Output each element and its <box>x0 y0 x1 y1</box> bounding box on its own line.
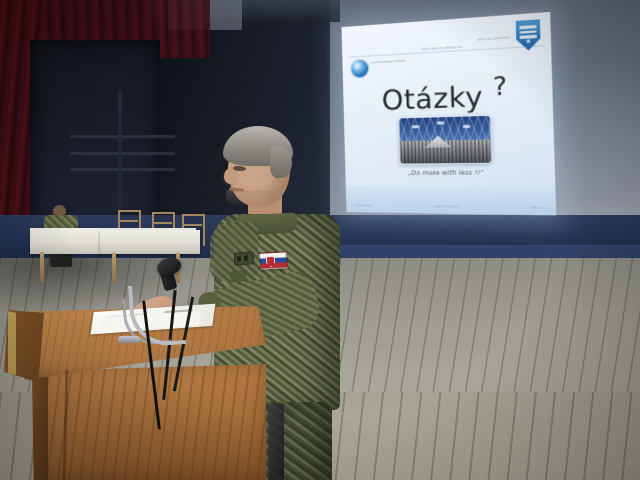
shield-star-icon <box>525 38 531 44</box>
lectern-edge-highlight <box>8 311 16 375</box>
slide-caption: „Do more with less !!“ <box>345 169 555 177</box>
slide-title-text: Otázky <box>381 81 483 117</box>
slide-footer-left: Slovak Republic <box>354 204 372 207</box>
shield-chevron <box>520 35 537 39</box>
scaffold-rail <box>70 168 175 171</box>
photo-light <box>412 125 419 128</box>
slide-footer-center: Logistics Conference <box>434 205 459 208</box>
officer-hair-side <box>270 146 292 178</box>
photo-ceiling-structure <box>399 116 490 142</box>
photo-light <box>436 121 444 124</box>
mic-base <box>118 336 140 343</box>
table-leg <box>40 252 44 282</box>
rank-tab-patch <box>233 251 254 266</box>
lectern-side-panel <box>32 368 48 480</box>
screenshot-scene: SLOVAK ARMED FORCES MINISTERSTVO OBRANY … <box>0 0 640 480</box>
slide-surface: SLOVAK ARMED FORCES MINISTERSTVO OBRANY … <box>341 12 556 215</box>
projected-slide: SLOVAK ARMED FORCES MINISTERSTVO OBRANY … <box>341 12 556 215</box>
scaffold-rail <box>70 135 175 138</box>
slide-footer-band <box>346 186 556 215</box>
slide-header-left: SLOVAK ARMED FORCES <box>371 60 405 66</box>
velcro-panel <box>230 270 247 282</box>
scaffold-rail <box>70 152 175 155</box>
stage-scaffold <box>30 40 160 230</box>
slide-title-question-mark: ? <box>492 71 508 102</box>
shield-chevron <box>519 25 536 29</box>
slide-title: Otázky ? <box>343 69 553 118</box>
flag-coat-of-arms <box>266 256 276 267</box>
slide-footer-right: Slide 1 / 1 <box>531 206 544 209</box>
background-table-second <box>100 230 200 254</box>
slovak-flag-patch <box>259 251 288 269</box>
loudspeaker-stand <box>268 404 284 480</box>
officer-jaw-shadow <box>226 190 274 208</box>
slide-photo <box>398 115 492 165</box>
shield-chevron <box>519 30 536 34</box>
table-leg <box>112 253 116 283</box>
photo-light <box>462 125 470 128</box>
circular-emblem-logo <box>351 60 368 78</box>
slide-header-right: NATO / EU LOGISTICS <box>477 36 510 42</box>
